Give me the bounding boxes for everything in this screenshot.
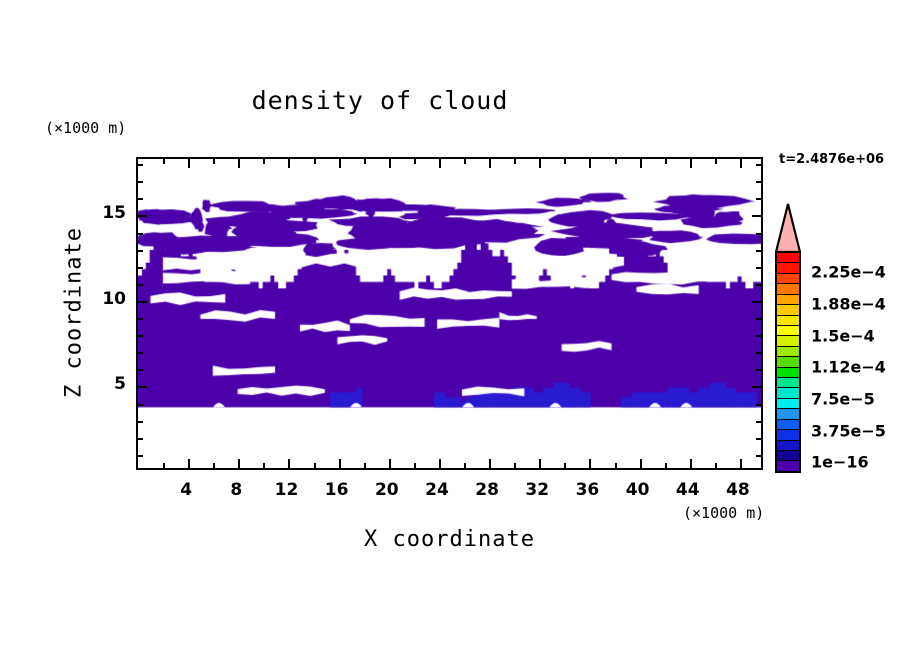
- y-tick-15: [138, 215, 147, 217]
- colorbar-segment-13: [777, 388, 799, 398]
- y-tick-right-2: [756, 438, 761, 440]
- y-tick-right-7: [756, 352, 761, 354]
- colorbar-segment-17: [777, 430, 799, 440]
- x-tick-2: [163, 463, 165, 468]
- time-annotation: t=2.4876e+06: [779, 152, 884, 167]
- colorbar-segment-14: [777, 399, 799, 409]
- x-tick-top-38: [615, 159, 617, 164]
- y-tick-13: [138, 250, 143, 252]
- y-tick-right-15: [752, 215, 761, 217]
- x-tick-top-22: [414, 159, 416, 164]
- y-tick-16: [138, 198, 143, 200]
- colorbar-label-0: 1e−16: [811, 453, 869, 472]
- colorbar-segment-6: [777, 316, 799, 326]
- y-tick-1: [138, 455, 143, 457]
- x-tick-18: [364, 463, 366, 468]
- x-axis-title: X coordinate: [136, 527, 763, 552]
- x-tick-top-10: [263, 159, 265, 164]
- x-tick-label-4: 4: [180, 480, 192, 500]
- y-tick-label-10: 10: [92, 289, 126, 309]
- x-tick-label-12: 12: [275, 480, 299, 500]
- x-tick-top-34: [564, 159, 566, 164]
- x-tick-44: [690, 459, 692, 468]
- colorbar-segment-10: [777, 357, 799, 367]
- y-tick-17: [138, 181, 143, 183]
- y-tick-12: [138, 267, 143, 269]
- colorbar-segments: [775, 251, 801, 473]
- y-tick-right-6: [756, 369, 761, 371]
- y-tick-label-5: 5: [92, 374, 126, 394]
- x-tick-14: [314, 463, 316, 468]
- y-tick-right-3: [756, 421, 761, 423]
- colorbar-segment-11: [777, 368, 799, 378]
- y-tick-right-12: [756, 267, 761, 269]
- cloud-density-field: [138, 159, 761, 468]
- x-tick-label-36: 36: [576, 480, 600, 500]
- x-tick-label-32: 32: [525, 480, 549, 500]
- y-tick-3: [138, 421, 143, 423]
- x-tick-top-12: [288, 159, 290, 168]
- x-tick-34: [564, 463, 566, 468]
- y-tick-right-11: [756, 284, 761, 286]
- y-tick-8: [138, 335, 143, 337]
- x-tick-top-36: [589, 159, 591, 168]
- x-tick-top-42: [665, 159, 667, 164]
- colorbar-segment-7: [777, 326, 799, 336]
- colorbar-segment-2: [777, 274, 799, 284]
- colorbar-segment-19: [777, 451, 799, 461]
- colorbar-label-2: 7.5e−5: [811, 390, 875, 409]
- x-tick-24: [439, 459, 441, 468]
- x-tick-22: [414, 463, 416, 468]
- x-tick-40: [640, 459, 642, 468]
- x-tick-30: [514, 463, 516, 468]
- colorbar-arrow-max-icon: [775, 203, 801, 253]
- x-tick-top-28: [489, 159, 491, 168]
- x-axis-unit-label: (×1000 m): [683, 504, 764, 522]
- x-tick-36: [589, 459, 591, 468]
- x-tick-4: [188, 459, 190, 468]
- colorbar-segment-4: [777, 295, 799, 305]
- y-tick-right-10: [752, 301, 761, 303]
- x-tick-label-44: 44: [676, 480, 700, 500]
- x-tick-label-28: 28: [475, 480, 499, 500]
- colorbar-label-1: 3.75e−5: [811, 421, 886, 440]
- colorbar-label-3: 1.12e−4: [811, 358, 886, 377]
- x-tick-top-24: [439, 159, 441, 168]
- x-tick-10: [263, 463, 265, 468]
- y-tick-7: [138, 352, 143, 354]
- x-tick-6: [213, 463, 215, 468]
- x-tick-top-20: [389, 159, 391, 168]
- colorbar-segment-8: [777, 336, 799, 346]
- colorbar-segment-0: [777, 253, 799, 263]
- colorbar-label-4: 1.5e−4: [811, 326, 875, 345]
- y-tick-right-18: [756, 164, 761, 166]
- colorbar-segment-9: [777, 347, 799, 357]
- colorbar-segment-18: [777, 441, 799, 451]
- y-axis-title: Z coordinate: [62, 213, 87, 413]
- x-tick-38: [615, 463, 617, 468]
- x-tick-8: [238, 459, 240, 468]
- x-tick-48: [740, 459, 742, 468]
- x-tick-26: [464, 463, 466, 468]
- x-tick-top-46: [715, 159, 717, 164]
- x-tick-top-26: [464, 159, 466, 164]
- x-tick-top-6: [213, 159, 215, 164]
- y-tick-11: [138, 284, 143, 286]
- x-tick-top-30: [514, 159, 516, 164]
- x-tick-top-44: [690, 159, 692, 168]
- y-tick-right-9: [756, 318, 761, 320]
- x-tick-32: [539, 459, 541, 468]
- plot-area: [136, 157, 763, 470]
- x-tick-top-8: [238, 159, 240, 168]
- x-tick-top-32: [539, 159, 541, 168]
- chart-title: density of cloud: [0, 86, 760, 115]
- y-tick-right-5: [752, 386, 761, 388]
- x-tick-top-48: [740, 159, 742, 168]
- x-tick-28: [489, 459, 491, 468]
- x-tick-top-14: [314, 159, 316, 164]
- y-tick-right-14: [756, 233, 761, 235]
- x-tick-label-8: 8: [230, 480, 242, 500]
- colorbar-segment-5: [777, 305, 799, 315]
- colorbar-segment-16: [777, 420, 799, 430]
- x-tick-42: [665, 463, 667, 468]
- y-tick-9: [138, 318, 143, 320]
- y-tick-2: [138, 438, 143, 440]
- x-tick-top-16: [339, 159, 341, 168]
- x-tick-top-4: [188, 159, 190, 168]
- colorbar-segment-12: [777, 378, 799, 388]
- y-tick-10: [138, 301, 147, 303]
- colorbar-label-6: 2.25e−4: [811, 263, 886, 282]
- x-tick-label-48: 48: [726, 480, 750, 500]
- y-tick-14: [138, 233, 143, 235]
- y-tick-4: [138, 404, 143, 406]
- x-tick-label-16: 16: [325, 480, 349, 500]
- colorbar-segment-1: [777, 263, 799, 273]
- x-tick-label-40: 40: [626, 480, 650, 500]
- y-axis-unit-label: (×1000 m): [45, 119, 126, 137]
- x-tick-20: [389, 459, 391, 468]
- y-tick-right-4: [756, 404, 761, 406]
- y-tick-right-17: [756, 181, 761, 183]
- colorbar-segment-3: [777, 284, 799, 294]
- x-tick-top-18: [364, 159, 366, 164]
- y-tick-right-8: [756, 335, 761, 337]
- y-tick-right-16: [756, 198, 761, 200]
- figure-root: density of cloud (×1000 m) (×1000 m) t=2…: [0, 0, 904, 654]
- x-tick-label-24: 24: [425, 480, 449, 500]
- colorbar-segment-20: [777, 461, 799, 470]
- colorbar-segment-15: [777, 409, 799, 419]
- y-tick-18: [138, 164, 143, 166]
- y-tick-right-1: [756, 455, 761, 457]
- x-tick-top-2: [163, 159, 165, 164]
- x-tick-label-20: 20: [375, 480, 399, 500]
- y-tick-6: [138, 369, 143, 371]
- y-tick-right-13: [756, 250, 761, 252]
- x-tick-46: [715, 463, 717, 468]
- x-tick-top-40: [640, 159, 642, 168]
- x-tick-12: [288, 459, 290, 468]
- y-tick-label-15: 15: [92, 203, 126, 223]
- y-tick-5: [138, 386, 147, 388]
- x-tick-16: [339, 459, 341, 468]
- colorbar-label-5: 1.88e−4: [811, 294, 886, 313]
